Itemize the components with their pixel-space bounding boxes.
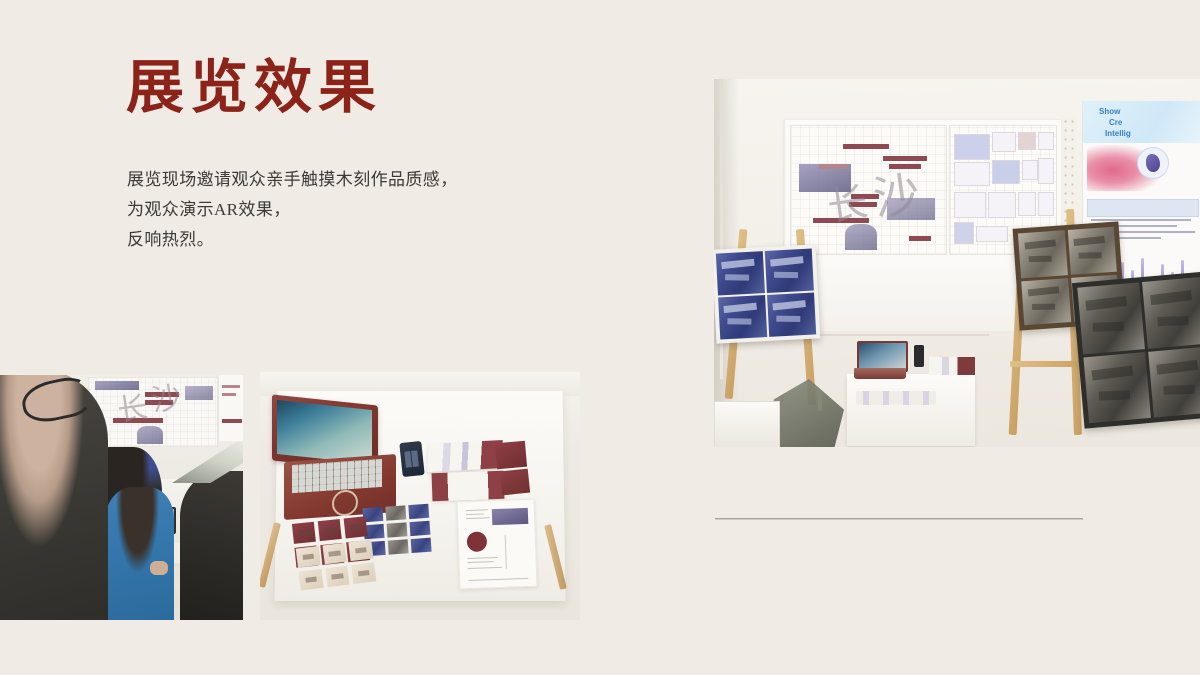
visitors-poster2-tag-3 bbox=[222, 419, 242, 423]
photo-display-table bbox=[260, 372, 580, 620]
red-tile-1 bbox=[292, 522, 316, 544]
visitors-poster-pavilion bbox=[137, 426, 163, 444]
photo-visitors: 长 沙 bbox=[0, 375, 243, 620]
body-paragraph: 展览现场邀请观众亲手触摸木刻作品质感， 为观众演示AR效果， 反响热烈。 bbox=[127, 165, 458, 255]
poster-b-card-13 bbox=[954, 222, 974, 244]
visitors-poster2-tag-2 bbox=[222, 393, 236, 396]
black-woodblock-cell-4 bbox=[1148, 346, 1200, 418]
cream-tile-4 bbox=[299, 569, 324, 591]
visitors-child-visitor bbox=[104, 487, 174, 620]
poster-b-card-3 bbox=[1018, 132, 1036, 150]
display-table-poster-line-6 bbox=[468, 567, 502, 569]
display-table-poster-line-1 bbox=[466, 509, 488, 511]
brown-woodblock-cell-1 bbox=[1018, 230, 1067, 278]
poster-b-card-10 bbox=[988, 192, 1016, 218]
black-woodblock-cell-1 bbox=[1077, 282, 1144, 354]
poster-tag-8 bbox=[909, 236, 931, 241]
visitors-child-hand bbox=[150, 561, 168, 575]
room-phone bbox=[914, 345, 924, 367]
red-tile-3 bbox=[344, 516, 368, 538]
black-woodblock-grid bbox=[1077, 277, 1200, 423]
blue-tile-2 bbox=[385, 505, 406, 520]
poster-right-title-line-3: Intellig bbox=[1105, 128, 1131, 139]
cream-tile-5 bbox=[325, 566, 350, 588]
display-table-poster-line-4 bbox=[467, 557, 497, 559]
horizontal-divider bbox=[715, 518, 1083, 520]
poster-main: 长 沙 bbox=[790, 125, 947, 255]
poster-b-card-2 bbox=[992, 132, 1016, 152]
artwork-black-woodblock bbox=[1072, 271, 1200, 428]
room-booklets bbox=[929, 357, 975, 375]
display-table-poster-line-3 bbox=[466, 517, 490, 519]
blue-tile-5 bbox=[387, 522, 408, 537]
body-line-2: 为观众演示AR效果， bbox=[127, 195, 458, 225]
photo-exhibition-room: 长 沙 bbox=[714, 79, 1200, 447]
display-table-poster-line-2 bbox=[466, 513, 484, 515]
blue-woodblock-cell-4 bbox=[767, 292, 816, 336]
poster-b-card-12 bbox=[1038, 192, 1054, 216]
poster-b-card-1 bbox=[954, 134, 990, 160]
display-table-laptop-screen bbox=[277, 400, 372, 464]
poster-right-title: Show Cre Intellig bbox=[1099, 106, 1131, 139]
visitors-staff-member bbox=[180, 471, 243, 620]
poster-b-card-14 bbox=[976, 226, 1008, 242]
display-table-poster-dot bbox=[467, 531, 488, 552]
blue-tile-3 bbox=[408, 504, 429, 519]
display-table-phone bbox=[399, 441, 424, 477]
easel-right-crossbar bbox=[1010, 361, 1086, 367]
display-table-poster-footer bbox=[468, 578, 528, 581]
display-table-open-booklet bbox=[432, 471, 505, 501]
blue-woodblock-cell-1 bbox=[716, 251, 765, 295]
slide-root: 展览效果 展览现场邀请观众亲手触摸木刻作品质感， 为观众演示AR效果， 反响热烈… bbox=[0, 0, 1200, 675]
display-table-accordion-book bbox=[427, 440, 502, 472]
poster-tag-1 bbox=[843, 144, 889, 149]
black-woodblock-cell-3 bbox=[1083, 352, 1150, 424]
room-card-set bbox=[856, 391, 936, 405]
display-table-poster-building bbox=[492, 508, 529, 525]
cream-tile-2 bbox=[322, 543, 347, 565]
cream-tile-3 bbox=[349, 540, 374, 562]
cream-tile-1 bbox=[296, 546, 321, 568]
blue-tile-9 bbox=[411, 538, 432, 553]
poster-right-magnifier-icon bbox=[1137, 147, 1169, 179]
poster-tag-2 bbox=[819, 164, 847, 169]
poster-b-card-6 bbox=[992, 160, 1020, 184]
poster-b-card-9 bbox=[954, 192, 986, 218]
display-table-scene bbox=[260, 372, 580, 620]
visitors-poster-building bbox=[185, 386, 213, 400]
visitors-scene: 长 沙 bbox=[0, 375, 243, 620]
display-table-poster-line-5 bbox=[468, 561, 494, 563]
room-laptop-base bbox=[854, 368, 906, 379]
display-table-poster-rule bbox=[505, 535, 507, 569]
cream-tile-6 bbox=[351, 562, 376, 584]
poster-b-card-5 bbox=[954, 162, 990, 186]
poster-right-title-line-1: Show bbox=[1099, 107, 1120, 116]
blue-woodblock-grid bbox=[716, 249, 816, 340]
poster-right-text-line-1 bbox=[1091, 219, 1191, 221]
blue-tile-6 bbox=[409, 521, 430, 536]
visitors-poster-calligraphy-1: 长 bbox=[114, 382, 150, 430]
body-line-3: 反响热烈。 bbox=[127, 225, 458, 255]
visitors-poster2-tag-1 bbox=[222, 385, 240, 388]
poster-calligraphy-left: 长 bbox=[823, 169, 871, 232]
poster-right-title-line-2: Cre bbox=[1109, 117, 1122, 128]
poster-calligraphy-right: 沙 bbox=[869, 157, 924, 229]
red-tile-2 bbox=[318, 519, 342, 541]
brown-woodblock-cell-3 bbox=[1021, 278, 1070, 326]
poster-right-block-1 bbox=[1087, 199, 1199, 217]
room-laptop bbox=[854, 341, 906, 379]
room-scene: 长 沙 bbox=[714, 79, 1200, 447]
body-line-1: 展览现场邀请观众亲手触摸木刻作品质感， bbox=[127, 165, 458, 195]
poster-b-card-4 bbox=[1038, 132, 1054, 150]
display-table-info-poster bbox=[456, 499, 537, 590]
poster-b-card-11 bbox=[1018, 192, 1036, 216]
blue-tile-8 bbox=[388, 539, 409, 554]
display-table-red-card bbox=[500, 469, 530, 496]
black-woodblock-cell-2 bbox=[1142, 277, 1200, 349]
blue-woodblock-cell-2 bbox=[765, 249, 814, 293]
display-table-blue-tiles bbox=[362, 504, 431, 556]
artwork-blue-woodblock bbox=[714, 244, 820, 343]
page-title: 展览效果 bbox=[126, 58, 382, 119]
display-table-laptop bbox=[272, 400, 397, 520]
room-display-table bbox=[847, 374, 975, 446]
visitors-poster-calligraphy-2: 沙 bbox=[148, 377, 184, 420]
visitors-wall-poster-secondary bbox=[218, 375, 243, 441]
room-white-panel bbox=[714, 401, 780, 447]
display-table-red-booklet bbox=[495, 441, 527, 470]
poster-b-card-8 bbox=[1038, 158, 1054, 184]
brown-woodblock-cell-2 bbox=[1067, 227, 1116, 275]
poster-b-card-7 bbox=[1022, 160, 1038, 180]
blue-woodblock-cell-3 bbox=[718, 295, 767, 339]
